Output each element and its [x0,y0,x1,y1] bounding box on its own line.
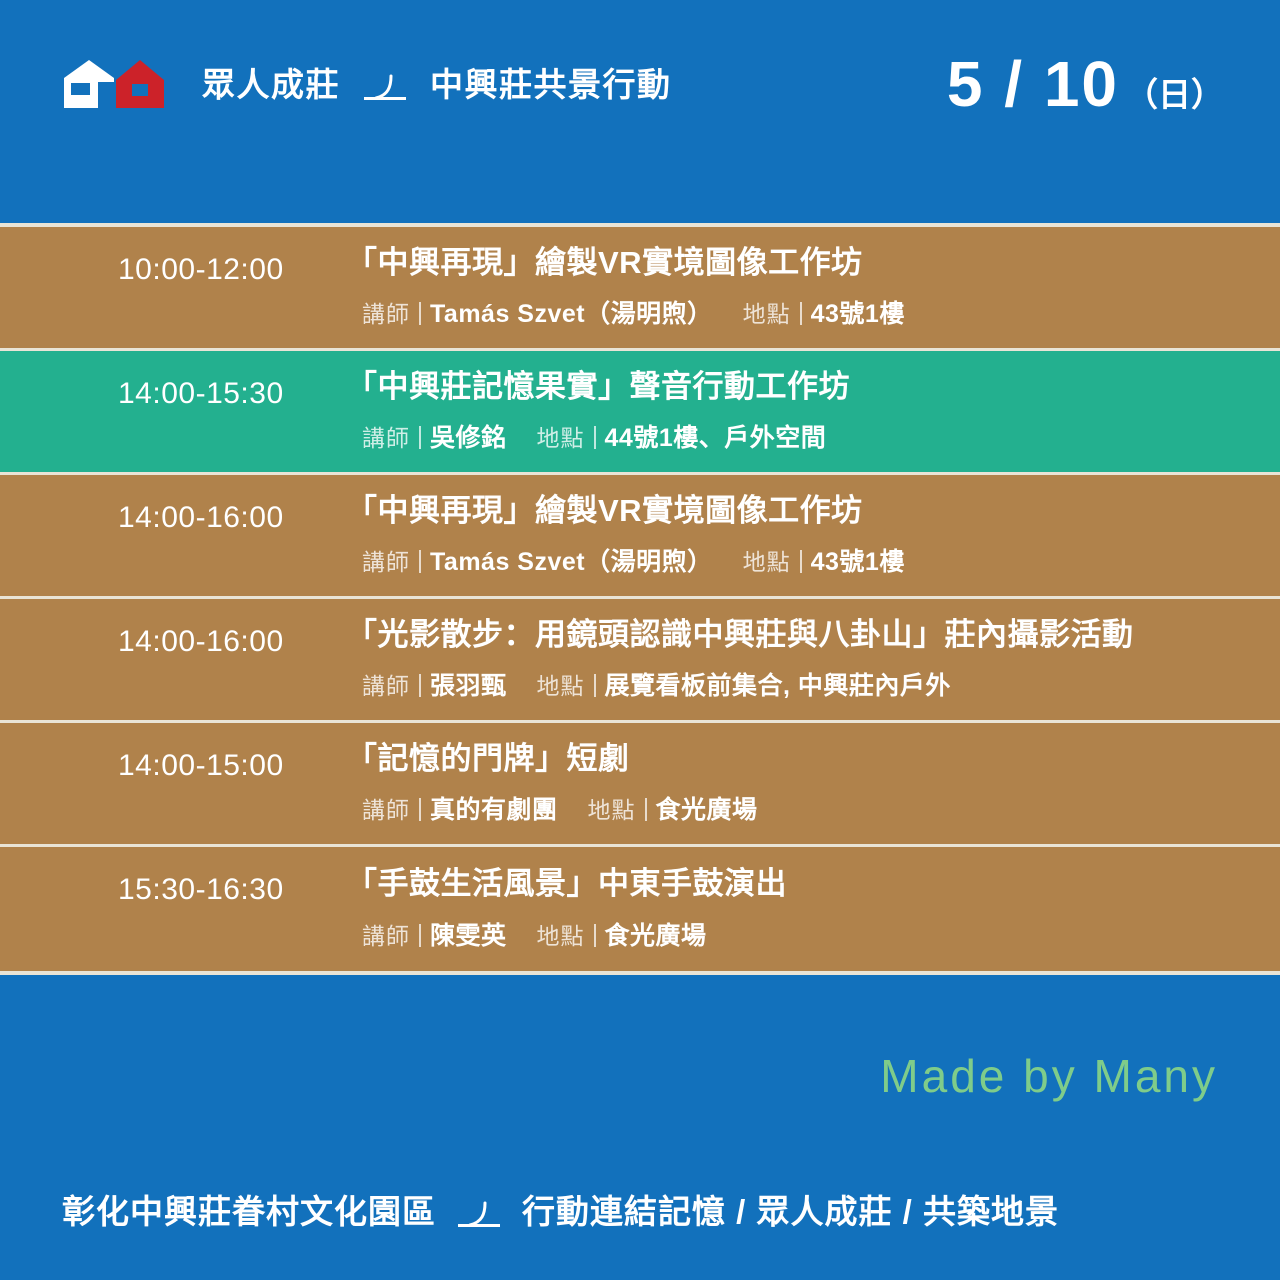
row-speaker: 講師 真的有劇團 [362,790,558,826]
footer-credit-line: 彰化中興莊眷村文化園區 行動連結記憶 / 眾人成莊 / 共築地景 [62,1195,1059,1228]
meta-divider [800,550,802,573]
meta-divider [594,426,596,449]
row-title: 「中興莊記憶果實」聲音行動工作坊 [346,369,1280,405]
row-meta: 講師 陳雯英 地點 食光廣場 [346,916,1280,952]
row-detail: 「記憶的門牌」短劇 講師 真的有劇團 地點 食光廣場 [346,741,1280,827]
speaker-value: Tamás Szvet（湯明煦） [430,542,713,578]
table-row[interactable]: 10:00-12:00 「中興再現」繪製VR實境圖像工作坊 講師 Tamás S… [0,227,1280,351]
row-detail: 「光影散步：用鏡頭認識中興莊與八卦山」莊內攝影活動 講師 張羽甄 地點 展覽看板… [346,617,1280,703]
roof-eave-icon [456,1200,502,1230]
row-title: 「記憶的門牌」短劇 [346,741,1280,777]
place-label: 地點 [743,295,791,329]
row-place: 地點 44號1樓、戶外空間 [537,418,827,454]
speaker-value: 張羽甄 [430,666,507,702]
row-speaker: 講師 張羽甄 [362,666,507,702]
table-row[interactable]: 14:00-15:30 「中興莊記憶果實」聲音行動工作坊 講師 吳修銘 地點 4… [0,351,1280,475]
place-label: 地點 [537,419,585,453]
speaker-label: 講師 [362,791,410,825]
row-time: 14:00-16:00 [118,627,346,657]
table-row[interactable]: 14:00-15:00 「記憶的門牌」短劇 講師 真的有劇團 地點 食光廣場 [0,723,1280,847]
speaker-value: 吳修銘 [430,418,507,454]
place-label: 地點 [743,543,791,577]
speaker-label: 講師 [362,667,410,701]
meta-divider [594,924,596,947]
row-speaker: 講師 Tamás Szvet（湯明煦） [362,542,713,578]
row-meta: 講師 吳修銘 地點 44號1樓、戶外空間 [346,418,1280,454]
brand-left: 眾人成莊 [202,68,340,101]
brand-line: 眾人成莊 中興莊共景行動 [202,68,672,101]
row-speaker: 講師 Tamás Szvet（湯明煦） [362,294,713,330]
meta-divider [419,302,421,325]
meta-divider [645,798,647,821]
place-label: 地點 [537,917,585,951]
venue-name: 彰化中興莊眷村文化園區 [62,1195,436,1228]
place-label: 地點 [537,667,585,701]
schedule-table: 10:00-12:00 「中興再現」繪製VR實境圖像工作坊 講師 Tamás S… [0,223,1280,975]
row-time: 14:00-16:00 [118,503,346,533]
place-value: 43號1樓 [811,542,905,578]
meta-divider [419,426,421,449]
row-time: 15:30-16:30 [118,875,346,905]
row-detail: 「中興再現」繪製VR實境圖像工作坊 講師 Tamás Szvet（湯明煦） 地點… [346,493,1280,579]
table-row[interactable]: 14:00-16:00 「中興再現」繪製VR實境圖像工作坊 講師 Tamás S… [0,475,1280,599]
footer-tagline: 行動連結記憶 / 眾人成莊 / 共築地景 [522,1195,1059,1228]
speaker-value: 陳雯英 [430,916,507,952]
row-meta: 講師 Tamás Szvet（湯明煦） 地點 43號1樓 [346,542,1280,578]
poster-header: 眾人成莊 中興莊共景行動 5 / 10 （日） [0,0,1280,223]
row-place: 地點 展覽看板前集合, 中興莊內戶外 [537,666,951,702]
row-meta: 講師 真的有劇團 地點 食光廣場 [346,790,1280,826]
event-date: 5 / 10 （日） [947,52,1224,116]
place-value: 食光廣場 [605,916,707,952]
made-by-many-label: Made by Many [880,1053,1218,1099]
speaker-value: Tamás Szvet（湯明煦） [430,294,713,330]
row-time: 14:00-15:00 [118,751,346,781]
header-row: 眾人成莊 中興莊共景行動 5 / 10 （日） [62,52,1224,116]
row-title: 「中興再現」繪製VR實境圖像工作坊 [346,493,1280,529]
roof-eave-icon [362,73,408,103]
place-value: 43號1樓 [811,294,905,330]
row-place: 地點 43號1樓 [743,542,905,578]
speaker-label: 講師 [362,917,410,951]
row-place: 地點 食光廣場 [537,916,707,952]
row-meta: 講師 張羽甄 地點 展覽看板前集合, 中興莊內戶外 [346,666,1280,702]
two-houses-logo [62,58,182,110]
meta-divider [594,674,596,697]
speaker-label: 講師 [362,295,410,329]
row-detail: 「手鼓生活風景」中東手鼓演出 講師 陳雯英 地點 食光廣場 [346,866,1280,952]
poster-root: 眾人成莊 中興莊共景行動 5 / 10 （日） 10:00-12:00 「中興再… [0,0,1280,1280]
row-detail: 「中興再現」繪製VR實境圖像工作坊 講師 Tamás Szvet（湯明煦） 地點… [346,245,1280,331]
date-value: 5 / 10 [947,52,1119,116]
table-row[interactable]: 14:00-16:00 「光影散步：用鏡頭認識中興莊與八卦山」莊內攝影活動 講師… [0,599,1280,723]
row-title: 「手鼓生活風景」中東手鼓演出 [346,866,1280,902]
row-meta: 講師 Tamás Szvet（湯明煦） 地點 43號1樓 [346,294,1280,330]
poster-footer: Made by Many 彰化中興莊眷村文化園區 行動連結記憶 / 眾人成莊 /… [0,975,1280,1280]
row-speaker: 講師 吳修銘 [362,418,507,454]
speaker-label: 講師 [362,419,410,453]
brand-right: 中興莊共景行動 [430,68,672,101]
meta-divider [419,674,421,697]
date-weekday: （日） [1125,78,1224,111]
row-time: 14:00-15:30 [118,379,346,409]
speaker-value: 真的有劇團 [430,790,558,826]
meta-divider [419,798,421,821]
meta-divider [419,924,421,947]
table-row[interactable]: 15:30-16:30 「手鼓生活風景」中東手鼓演出 講師 陳雯英 地點 食光廣… [0,847,1280,971]
place-value: 食光廣場 [656,790,758,826]
place-value: 展覽看板前集合, 中興莊內戶外 [605,666,951,702]
row-title: 「光影散步：用鏡頭認識中興莊與八卦山」莊內攝影活動 [346,617,1280,653]
row-detail: 「中興莊記憶果實」聲音行動工作坊 講師 吳修銘 地點 44號1樓、戶外空間 [346,369,1280,455]
row-place: 地點 食光廣場 [588,790,758,826]
meta-divider [800,302,802,325]
place-label: 地點 [588,791,636,825]
place-value: 44號1樓、戶外空間 [605,418,827,454]
speaker-label: 講師 [362,543,410,577]
meta-divider [419,550,421,573]
row-time: 10:00-12:00 [118,255,346,285]
row-place: 地點 43號1樓 [743,294,905,330]
row-title: 「中興再現」繪製VR實境圖像工作坊 [346,245,1280,281]
row-speaker: 講師 陳雯英 [362,916,507,952]
